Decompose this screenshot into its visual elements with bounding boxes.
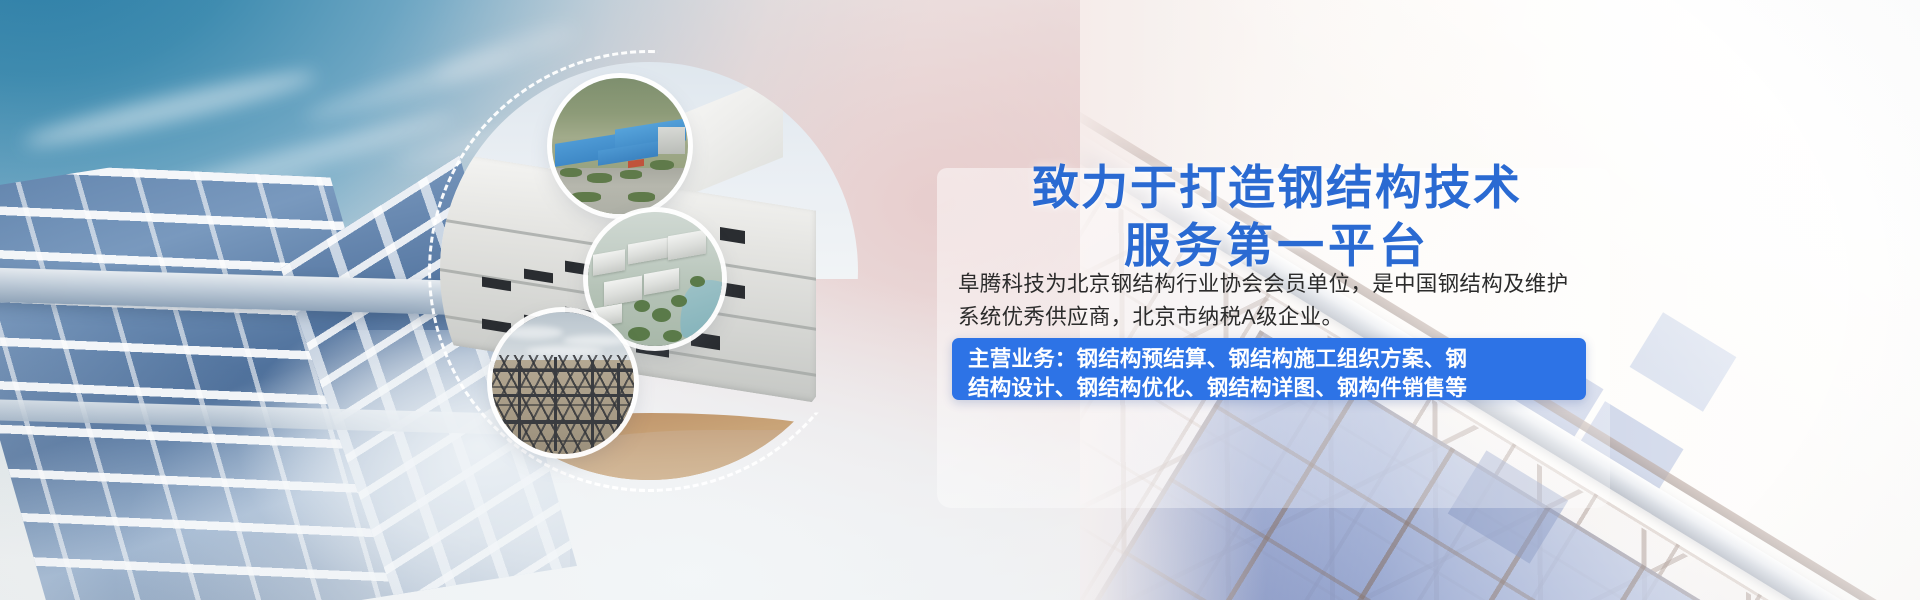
hero-banner: 致力于打造钢结构技术 服务第一平台 阜腾科技为北京钢结构行业协会会员单位，是中国… xyxy=(0,0,1920,600)
hero-description: 阜腾科技为北京钢结构行业协会会员单位，是中国钢结构及维护系统优秀供应商，北京市纳… xyxy=(958,268,1590,333)
gallery-photo-3[interactable] xyxy=(492,312,634,454)
badge-line-2: 结构设计、钢结构优化、钢结构详图、钢构件销售等 xyxy=(968,374,1572,403)
gallery-photo-1[interactable] xyxy=(552,78,688,214)
hero-title-line-1: 致力于打造钢结构技术 xyxy=(937,160,1617,218)
hero-title: 致力于打造钢结构技术 服务第一平台 xyxy=(937,160,1617,277)
photo-cluster xyxy=(0,0,920,600)
badge-line-1: 主营业务：钢结构预结算、钢结构施工组织方案、钢 xyxy=(968,345,1572,374)
main-business-badge: 主营业务：钢结构预结算、钢结构施工组织方案、钢 结构设计、钢结构优化、钢结构详图… xyxy=(952,338,1586,400)
